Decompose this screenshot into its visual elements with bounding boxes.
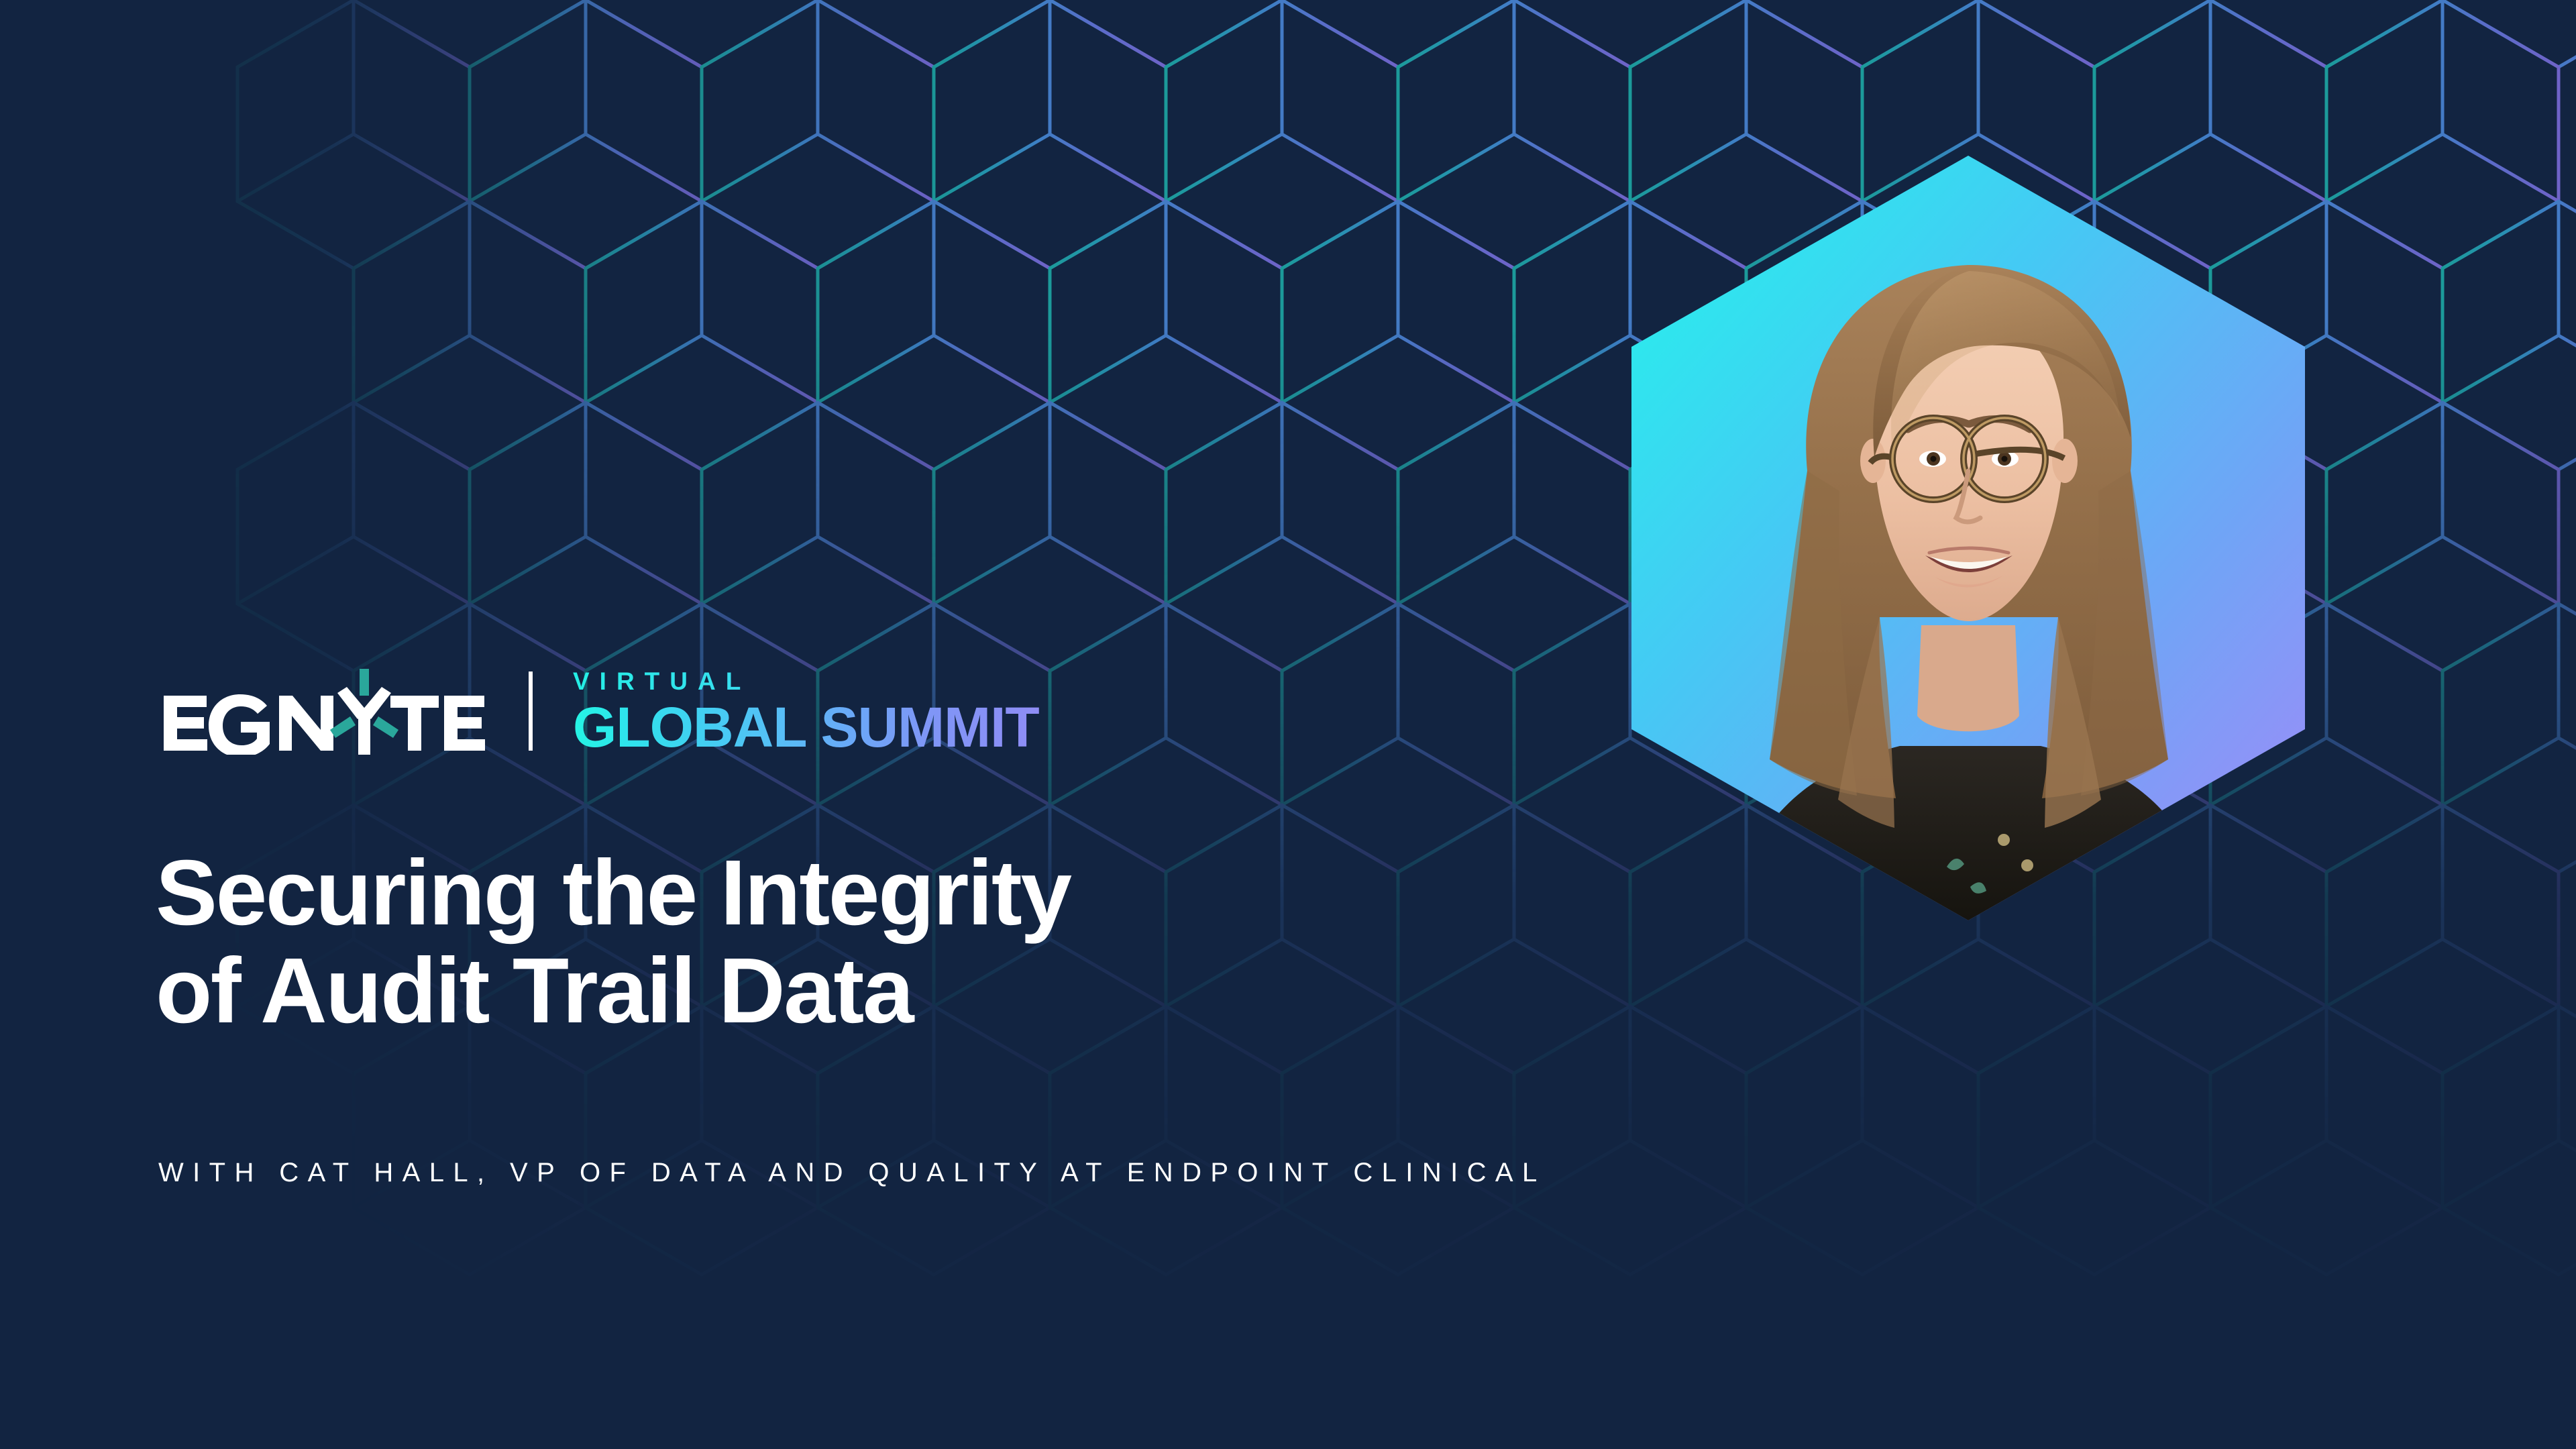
summit-title-card: VIRTUAL GLOBAL SUMMIT Securing the Integ…: [0, 0, 2576, 1449]
session-subtitle: WITH CAT HALL, VP OF DATA AND QUALITY AT…: [158, 1158, 1546, 1188]
global-summit-lockup: VIRTUAL GLOBAL SUMMIT: [573, 669, 1039, 753]
event-kicker: VIRTUAL: [573, 669, 1039, 694]
event-wordmark-bold: GLOBAL: [573, 696, 806, 759]
event-wordmark: GLOBAL SUMMIT: [573, 702, 1039, 753]
speaker-portrait: [1631, 156, 2305, 920]
lockup-divider: [529, 672, 533, 751]
egnyte-logo[interactable]: [160, 667, 487, 755]
session-title-line-1: Securing the Integrity: [156, 844, 1699, 942]
session-title: Securing the Integrity of Audit Trail Da…: [156, 844, 1699, 1040]
event-wordmark-light: SUMMIT: [820, 696, 1038, 759]
session-title-line-2: of Audit Trail Data: [156, 942, 1699, 1040]
brand-lockup: VIRTUAL GLOBAL SUMMIT: [160, 661, 1039, 761]
